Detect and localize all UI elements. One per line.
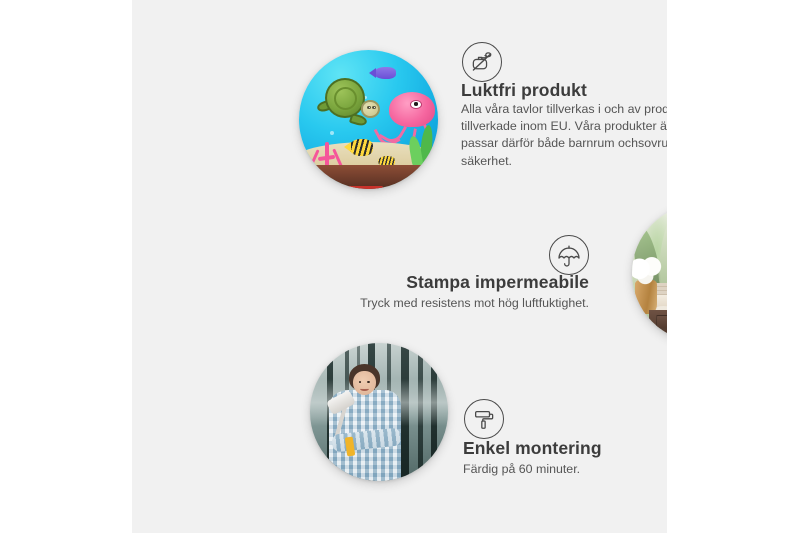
feature-description-waterproof: Tryck med resistens mot hög luftfuktighe… (313, 295, 589, 312)
feature-image-waterproof (632, 204, 667, 342)
octopus-eye (410, 100, 422, 109)
vanity-cabinet (649, 310, 667, 342)
purple-fish-icon (374, 67, 396, 80)
turtle-shell (325, 78, 365, 118)
turtle-eye (372, 106, 376, 110)
sea-turtle-icon (321, 78, 377, 129)
octopus-head (389, 92, 436, 128)
person-eye (359, 381, 362, 383)
white-flowers (632, 255, 664, 285)
feature-title-odour-free: Luktfri produkt (461, 80, 587, 101)
feature-description-easy-mounting: Färdig på 60 minuter. (463, 461, 667, 478)
person-eye (367, 381, 370, 383)
feature-image-odour-free (299, 50, 438, 189)
shipwreck (310, 165, 435, 189)
ship-hull-stripe (340, 186, 383, 188)
ship-hull-stripe (388, 186, 416, 188)
turtle-eye (367, 106, 371, 110)
person-smile (360, 386, 369, 390)
product-feature-infographic: Luktfri produkt Alla våra tavlor tillver… (0, 0, 800, 533)
paint-roller-icon (464, 399, 504, 439)
yellow-fish-icon (349, 139, 373, 156)
feature-image-easy-mounting (310, 343, 448, 481)
no-spray-bottle-icon (462, 42, 502, 82)
feature-title-easy-mounting: Enkel montering (463, 438, 602, 459)
feature-description-odour-free: Alla våra tavlor tillverkas i och av pro… (461, 101, 667, 170)
umbrella-icon (549, 235, 589, 275)
feature-title-waterproof: Stampa impermeabile (341, 272, 589, 293)
vanity-drawer (656, 315, 667, 329)
content-panel: Luktfri produkt Alla våra tavlor tillver… (132, 0, 667, 533)
